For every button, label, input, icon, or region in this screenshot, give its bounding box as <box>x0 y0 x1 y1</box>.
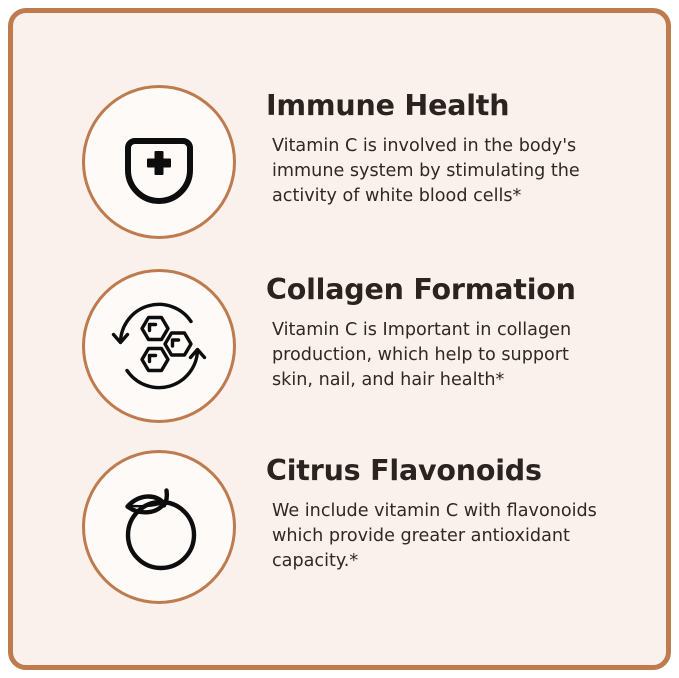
honeycomb-refresh-icon <box>107 294 211 398</box>
benefit-item-immune-health: Immune Health Vitamin C is involved in t… <box>13 85 666 239</box>
benefit-list: Immune Health Vitamin C is involved in t… <box>13 13 666 665</box>
benefit-text-citrus-flavonoids: Citrus Flavonoids We include vitamin C w… <box>236 450 666 574</box>
benefit-text-immune-health: Immune Health Vitamin C is involved in t… <box>236 85 666 209</box>
icon-badge-immune-health <box>82 85 236 239</box>
benefit-description: Vitamin C is Important in collagen produ… <box>272 318 598 393</box>
infographic-card: Immune Health Vitamin C is involved in t… <box>8 8 671 670</box>
benefit-item-citrus-flavonoids: Citrus Flavonoids We include vitamin C w… <box>13 450 666 604</box>
benefit-description: We include vitamin C with flavonoids whi… <box>272 499 598 574</box>
benefit-title: Immune Health <box>266 89 648 123</box>
benefit-item-collagen-formation: Collagen Formation Vitamin C is Importan… <box>13 269 666 423</box>
icon-badge-citrus-flavonoids <box>82 450 236 604</box>
benefit-description: Vitamin C is involved in the body's immu… <box>272 134 598 209</box>
benefit-title: Citrus Flavonoids <box>266 454 648 488</box>
benefit-title: Collagen Formation <box>266 273 648 307</box>
benefit-text-collagen-formation: Collagen Formation Vitamin C is Importan… <box>236 269 666 393</box>
shield-plus-icon <box>116 119 202 205</box>
orange-fruit-icon <box>107 475 211 579</box>
icon-badge-collagen-formation <box>82 269 236 423</box>
